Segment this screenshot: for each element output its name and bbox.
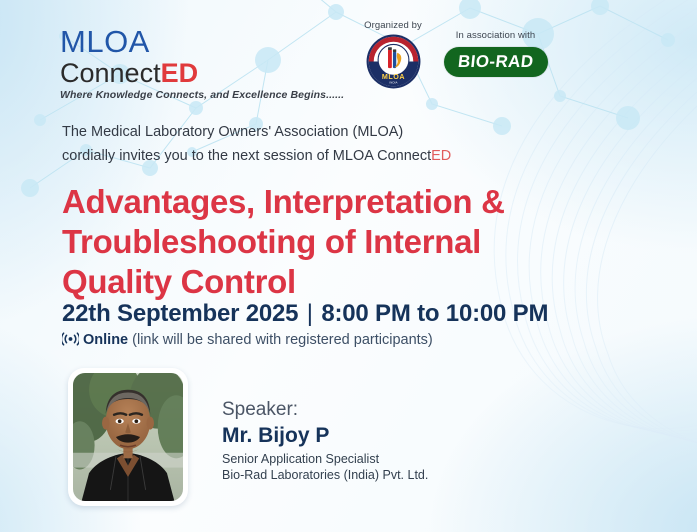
mloa-emblem-icon: MLOA INDIA (366, 34, 421, 89)
speaker-photo-svg (73, 373, 183, 501)
session-mode-note: (link will be shared with registered par… (128, 332, 433, 348)
broadcast-icon (62, 332, 79, 350)
session-datetime: 22th September 2025 | 8:00 PM to 10:00 P… (62, 300, 548, 328)
organizer-block: Organized by MLOA INDIA (348, 20, 438, 94)
brand-connect-text: Connect (60, 58, 161, 88)
session-mode: Online (83, 332, 128, 348)
session-title-line-2: Troubleshooting of Internal (62, 222, 622, 262)
session-title: Advantages, Interpretation & Troubleshoo… (62, 182, 622, 302)
association-block: In association with BIO-RAD (428, 30, 563, 77)
speaker-organization: Bio-Rad Laboratories (India) Pvt. Ltd. (222, 467, 428, 483)
datetime-separator: | (305, 300, 315, 327)
speaker-details: Speaker: Mr. Bijoy P Senior Application … (222, 398, 428, 483)
invitation-line-1: The Medical Laboratory Owners' Associati… (62, 120, 451, 144)
invitation-text: The Medical Laboratory Owners' Associati… (62, 120, 451, 168)
brand-ed-text: ED (161, 58, 199, 88)
speaker-label: Speaker: (222, 398, 428, 422)
svg-text:MLOA: MLOA (381, 73, 404, 81)
session-date: 22th September 2025 (62, 300, 298, 327)
biorad-logo-text: BIO-RAD (457, 52, 535, 72)
broadcast-icon-svg (62, 332, 79, 346)
in-association-with-caption: In association with (428, 30, 563, 41)
invitation-ed-accent: ED (431, 148, 451, 164)
speaker-photo (73, 373, 183, 501)
brand-logo: MLOA ConnectED Where Knowledge Connects,… (60, 26, 344, 101)
brand-name-connected: ConnectED (60, 58, 344, 88)
speaker-photo-frame (68, 368, 188, 506)
brand-tagline: Where Knowledge Connects, and Excellence… (60, 89, 344, 101)
session-time: 8:00 PM to 10:00 PM (321, 300, 548, 327)
session-mode-line: Online (link will be shared with registe… (62, 332, 433, 350)
poster-canvas: MLOA ConnectED Where Knowledge Connects,… (0, 0, 697, 532)
biorad-logo: BIO-RAD (444, 47, 548, 77)
organized-by-caption: Organized by (348, 20, 438, 31)
invitation-line-2-text: cordially invites you to the next sessio… (62, 148, 431, 164)
speaker-name: Mr. Bijoy P (222, 423, 428, 449)
speaker-role: Senior Application Specialist (222, 451, 428, 467)
svg-text:INDIA: INDIA (389, 81, 397, 85)
session-title-line-1: Advantages, Interpretation & (62, 182, 622, 222)
invitation-line-2: cordially invites you to the next sessio… (62, 144, 451, 168)
session-title-line-3: Quality Control (62, 262, 622, 302)
brand-name-mloa: MLOA (60, 26, 344, 57)
